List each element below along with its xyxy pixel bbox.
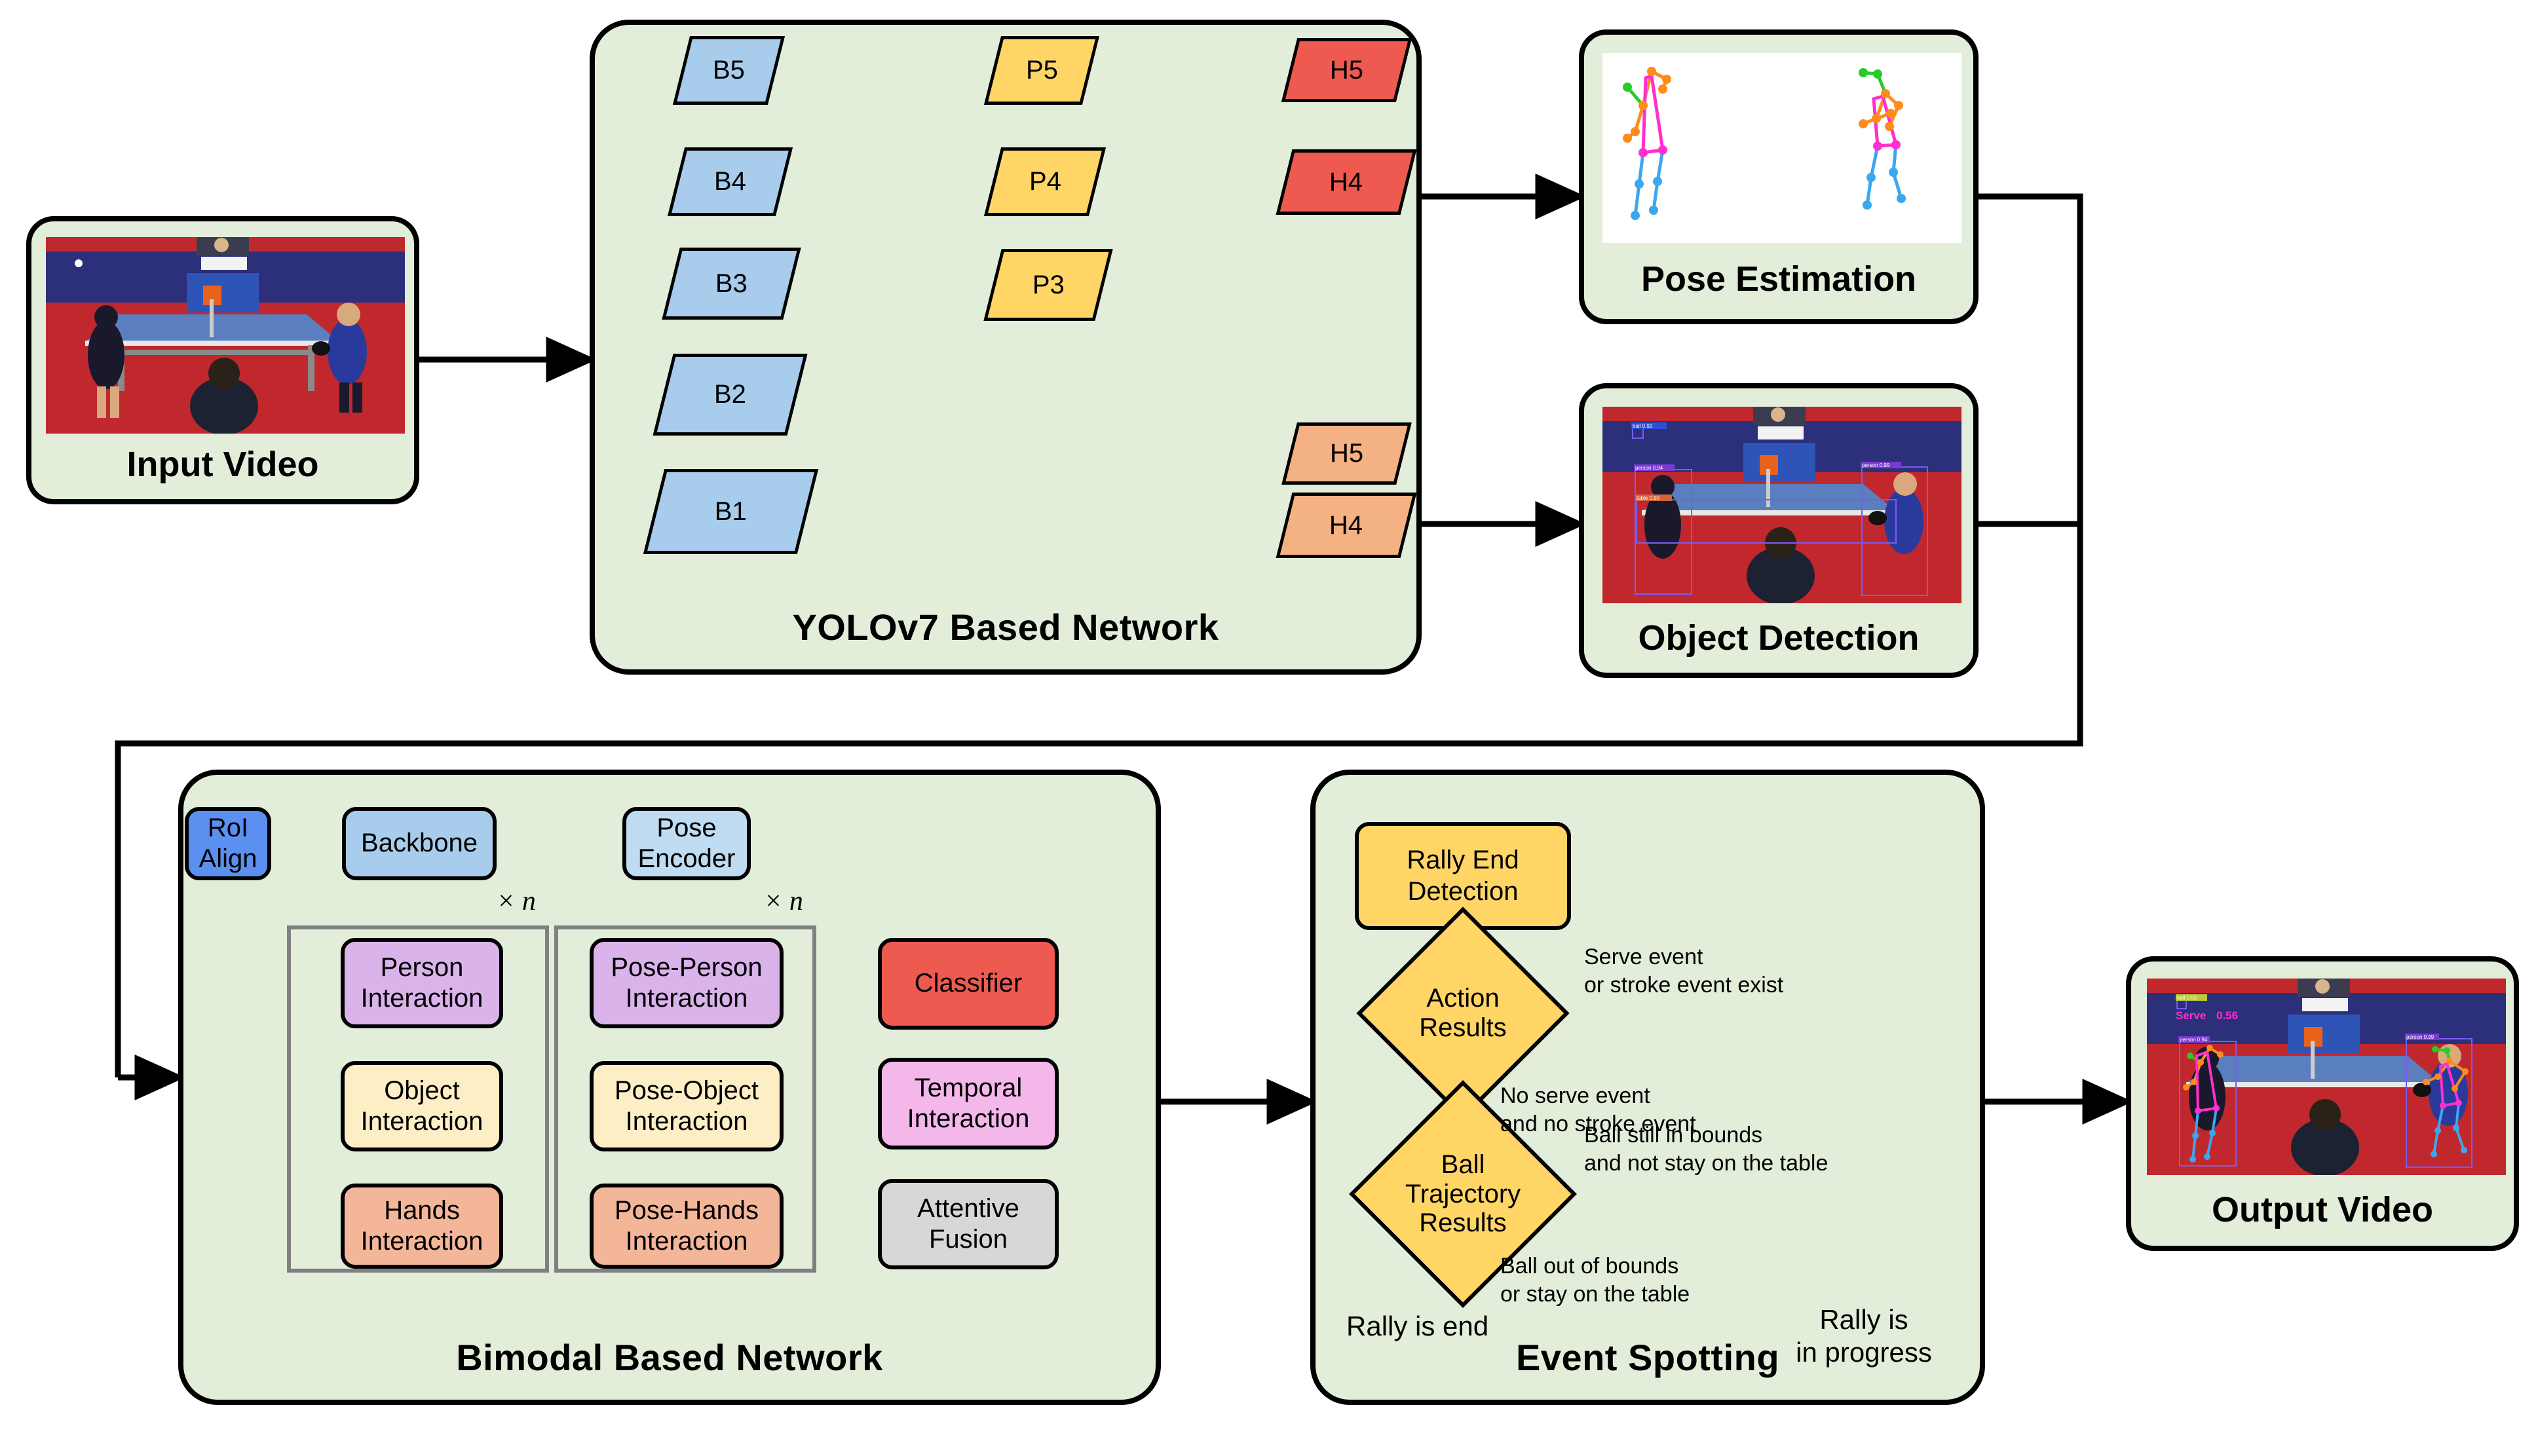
backbone-block: Backbone xyxy=(342,807,497,880)
node-b1-label: B1 xyxy=(715,497,747,527)
pose-estimation-thumbnail xyxy=(1602,53,1961,243)
roi-align-block: RoI Align xyxy=(185,807,271,880)
pose-encoder-block: Pose Encoder xyxy=(622,807,751,880)
bimodal-panel-title: Bimodal Based Network xyxy=(178,1336,1161,1379)
output-video-thumbnail: ball 0.92 person 0.94 person 0.99 Serve … xyxy=(2147,979,2506,1175)
pose-estimation-card: Pose Estimation xyxy=(1579,29,1979,324)
object-detection-caption: Object Detection xyxy=(1584,618,1973,658)
visual-stream-repeat-marker: × n xyxy=(497,886,536,917)
pose-object-interaction-label-2: Interaction xyxy=(626,1106,748,1137)
roi-align-label-1: RoI xyxy=(208,813,248,844)
match-frame-graphic xyxy=(46,237,405,434)
pose-person-interaction-label-1: Pose-Person xyxy=(611,952,762,983)
pose-estimation-caption: Pose Estimation xyxy=(1584,259,1973,299)
node-p5: P5 xyxy=(984,36,1099,105)
node-b2-label: B2 xyxy=(714,380,746,409)
node-h4-object-label: H4 xyxy=(1329,511,1363,540)
node-h5-pose: H5 xyxy=(1281,38,1412,102)
skeleton-graphic xyxy=(1602,53,1961,243)
attentive-fusion-block: Attentive Fusion xyxy=(878,1179,1059,1269)
svg-text:table 0.90: table 0.90 xyxy=(1637,495,1660,501)
edge-label-ball-in-bounds-2: and not stay on the table xyxy=(1584,1149,1828,1178)
node-p3-label: P3 xyxy=(1032,271,1065,300)
object-interaction-block: Object Interaction xyxy=(341,1061,503,1151)
svg-text:ball 0.92: ball 0.92 xyxy=(2177,995,2197,1001)
outcome-rally-in-progress-2: in progress xyxy=(1795,1336,1933,1369)
pose-hands-interaction-label-2: Interaction xyxy=(626,1226,748,1257)
output-video-caption: Output Video xyxy=(2131,1189,2514,1230)
node-b4-label: B4 xyxy=(714,167,746,196)
person-interaction-label-2: Interaction xyxy=(361,983,483,1014)
node-b3-label: B3 xyxy=(715,269,748,299)
node-h4-object: H4 xyxy=(1276,493,1417,558)
hands-interaction-label-1: Hands xyxy=(384,1195,460,1226)
hands-interaction-label-2: Interaction xyxy=(361,1226,483,1257)
output-action-label-text: Serve xyxy=(2176,1009,2206,1022)
attentive-fusion-label-1: Attentive xyxy=(917,1193,1019,1224)
svg-text:person 0.99: person 0.99 xyxy=(2406,1034,2434,1040)
node-h4-pose-label: H4 xyxy=(1329,168,1363,197)
svg-text:ball 0.92: ball 0.92 xyxy=(1633,423,1653,429)
pose-encoder-label-2: Encoder xyxy=(638,844,736,874)
detection-frame-graphic: ball 0.92 person 0.94 person 0.99 table … xyxy=(1602,407,1961,603)
person-interaction-label-1: Person xyxy=(381,952,464,983)
pose-object-interaction-block: Pose-Object Interaction xyxy=(590,1061,784,1151)
node-h5-object: H5 xyxy=(1281,422,1412,485)
edge-label-ball-out-of-bounds-2: or stay on the table xyxy=(1500,1280,1690,1309)
ball-trajectory-label: Ball Trajectory Results xyxy=(1405,1150,1521,1238)
edge-label-ball-out-of-bounds-1: Ball out of bounds xyxy=(1500,1252,1690,1280)
pose-person-interaction-block: Pose-Person Interaction xyxy=(590,938,784,1028)
pose-hands-interaction-block: Pose-Hands Interaction xyxy=(590,1184,784,1269)
ball-trajectory-label-2: Trajectory xyxy=(1405,1180,1521,1209)
person-interaction-block: Person Interaction xyxy=(341,938,503,1028)
outcome-rally-in-progress-1: Rally is xyxy=(1795,1303,1933,1336)
edge-label-ball-in-bounds-1: Ball still in bounds xyxy=(1584,1121,1828,1149)
classifier-label: Classifier xyxy=(915,968,1022,999)
action-results-label-1: Action xyxy=(1419,984,1506,1013)
node-b3: B3 xyxy=(662,248,801,320)
action-results-decision: Action Results xyxy=(1388,938,1538,1089)
outcome-rally-is-end: Rally is end xyxy=(1346,1310,1488,1343)
action-results-label-2: Results xyxy=(1419,1013,1506,1043)
pose-person-interaction-label-2: Interaction xyxy=(626,983,748,1014)
node-p5-label: P5 xyxy=(1026,56,1058,85)
input-video-thumbnail xyxy=(46,237,405,434)
input-video-card: Input Video xyxy=(26,216,419,504)
outcome-rally-in-progress: Rally is in progress xyxy=(1795,1303,1933,1370)
ball-trajectory-label-1: Ball xyxy=(1405,1150,1521,1180)
node-p4: P4 xyxy=(984,147,1106,216)
node-b5-label: B5 xyxy=(713,56,745,85)
action-results-label: Action Results xyxy=(1419,984,1506,1043)
edge-label-serve-event-2: or stroke event exist xyxy=(1584,971,1783,999)
node-h5-object-label: H5 xyxy=(1330,439,1363,468)
node-p4-label: P4 xyxy=(1029,167,1061,196)
temporal-interaction-block: Temporal Interaction xyxy=(878,1058,1059,1149)
node-h5-pose-label: H5 xyxy=(1330,56,1363,85)
object-detection-card: ball 0.92 person 0.94 person 0.99 table … xyxy=(1579,383,1979,678)
hands-interaction-block: Hands Interaction xyxy=(341,1184,503,1269)
rally-end-detection-label-1: Rally End xyxy=(1407,845,1519,876)
pose-encoder-label-1: Pose xyxy=(656,813,716,844)
classifier-block: Classifier xyxy=(878,938,1059,1030)
rally-end-detection-label-2: Detection xyxy=(1408,876,1519,907)
node-b4: B4 xyxy=(668,147,793,216)
svg-text:person 0.94: person 0.94 xyxy=(1635,465,1663,471)
pose-hands-interaction-label-1: Pose-Hands xyxy=(615,1195,759,1226)
svg-text:person 0.99: person 0.99 xyxy=(1862,462,1890,468)
object-interaction-label-1: Object xyxy=(384,1075,460,1106)
ball-trajectory-label-3: Results xyxy=(1405,1208,1521,1238)
roi-align-label-2: Align xyxy=(199,844,257,874)
yolov7-panel xyxy=(590,20,1422,675)
attentive-fusion-label-2: Fusion xyxy=(929,1224,1008,1255)
yolov7-panel-title: YOLOv7 Based Network xyxy=(590,606,1422,648)
object-interaction-label-2: Interaction xyxy=(361,1106,483,1137)
node-h4-pose: H4 xyxy=(1276,149,1417,215)
pose-stream-repeat-marker: × n xyxy=(764,886,803,917)
output-action-score-text: 0.56 xyxy=(2216,1009,2238,1022)
node-p3: P3 xyxy=(983,249,1112,321)
pose-object-interaction-label-1: Pose-Object xyxy=(615,1075,759,1106)
backbone-label: Backbone xyxy=(361,828,478,859)
node-b1: B1 xyxy=(643,469,818,554)
edge-label-ball-out-of-bounds: Ball out of bounds or stay on the table xyxy=(1500,1252,1690,1308)
output-frame-graphic: ball 0.92 person 0.94 person 0.99 Serve … xyxy=(2147,979,2506,1175)
temporal-interaction-label-1: Temporal xyxy=(915,1073,1023,1104)
edge-label-no-serve-event-1: No serve event xyxy=(1500,1082,1696,1110)
svg-text:person 0.94: person 0.94 xyxy=(2180,1037,2208,1043)
object-detection-thumbnail: ball 0.92 person 0.94 person 0.99 table … xyxy=(1602,407,1961,603)
edge-label-ball-in-bounds: Ball still in bounds and not stay on the… xyxy=(1584,1121,1828,1177)
edge-label-serve-event: Serve event or stroke event exist xyxy=(1584,943,1783,999)
output-video-card: ball 0.92 person 0.94 person 0.99 Serve … xyxy=(2126,956,2519,1251)
input-video-caption: Input Video xyxy=(31,444,414,485)
edge-label-serve-event-1: Serve event xyxy=(1584,943,1783,971)
node-b5: B5 xyxy=(673,36,785,105)
temporal-interaction-label-2: Interaction xyxy=(907,1104,1030,1134)
node-b2: B2 xyxy=(653,354,807,436)
